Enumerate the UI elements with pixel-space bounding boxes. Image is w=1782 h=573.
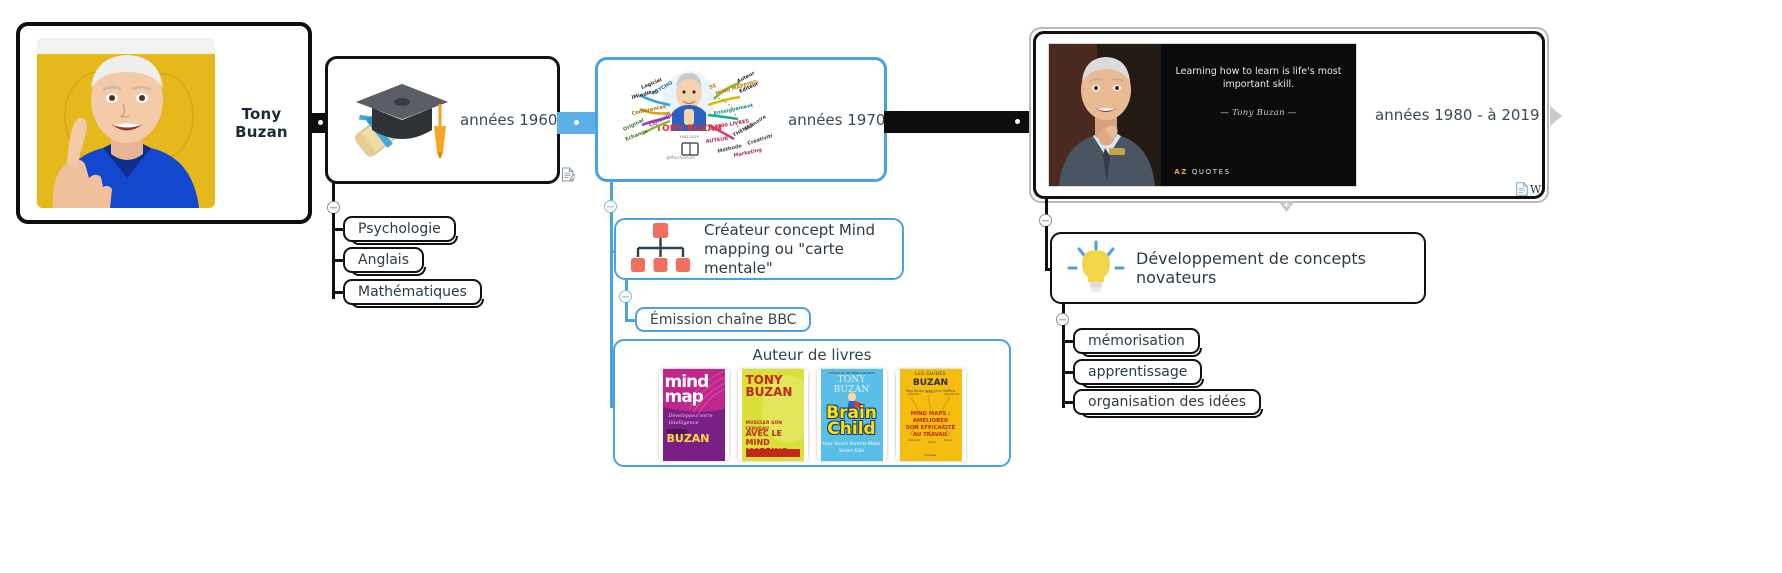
book-covers-row: mind map Développez votre Intelligence B… [615,369,1009,461]
sub-node-psychologie[interactable]: Psychologie [343,216,456,242]
books-title: Auteur de livres [615,346,1009,364]
sub-node-apprentissage[interactable]: apprentissage [1073,359,1202,385]
az-watermark-b: QUOTES [1192,168,1231,176]
graduation-cap-diploma-icon [340,68,452,172]
connector-concept-child-spine [625,302,628,320]
book-subtitle: Développez votre Intelligence [669,413,721,427]
node-auteur-de-livres[interactable]: Auteur de livres mind map [613,339,1011,467]
book-title: MIND MAPS :AMÉLIORERSON EFFICACITÉAU TRA… [900,411,962,439]
expand-plus-icon-1980[interactable] [1278,198,1295,217]
quote-author: — Tony Buzan — [1220,108,1296,118]
sub-node-label: Psychologie [358,221,441,237]
connector-1960-children-spine [332,213,335,299]
branch-node-1960[interactable]: années 1960 [325,56,560,184]
trunk-dot-2 [574,120,579,125]
book-cover-brain-child[interactable]: AUTHOR OF THE MIND MAP BOOK TONY BUZAN B… [817,369,887,461]
branch-1960-label: années 1960 [460,111,557,129]
svg-text:1942-2019: 1942-2019 [679,135,699,139]
root-label: Tony Buzan [215,105,308,141]
root-node-tony-buzan[interactable]: Tony Buzan [16,22,312,224]
concept-line-2: mapping ou "carte mentale" [704,240,902,278]
word-document-icon[interactable]: W [1516,182,1541,196]
mindmap-structure-icon [630,221,692,277]
word-letter: W [1530,183,1541,196]
az-watermark-a: AZ [1174,168,1188,176]
book-author: BUZAN [667,432,710,445]
trunk-dot-3 [1015,119,1020,124]
note-attachment-icon[interactable] [561,167,574,181]
book-title: BrainChild [821,405,883,437]
sub-node-label: Mathématiques [358,284,467,300]
sub-node-label: organisation des idées [1088,394,1246,410]
quote-text-block: Learning how to learn is life's most imp… [1161,44,1356,186]
node-developpement-concepts[interactable]: Développement de concepts novateurs [1050,232,1426,304]
sub-node-mathematiques[interactable]: Mathématiques [343,279,482,305]
az-quotes-watermark: AZ QUOTES [1049,168,1356,176]
node-createur-mind-mapping[interactable]: Créateur concept Mind mapping ou "carte … [614,218,904,280]
book-cover-muscler-son-cerveau[interactable]: TONY BUZAN MUSCLER SON CERVEAU AVEC LE M… [738,369,808,461]
connector-developpement-spine [1062,325,1065,408]
svg-text:@MarcSamuel: @MarcSamuel [666,155,695,160]
book-title: mind map [665,375,723,405]
sub-node-label: Émission chaîne BBC [650,312,796,328]
branch-node-1980-2019[interactable]: Learning how to learn is life's most imp… [1033,31,1545,199]
sub-node-label: Anglais [358,252,409,268]
quote-line-1: Learning how to learn is life's most [1176,66,1342,79]
concept-line-1: Créateur concept Mind [704,221,902,240]
book-collection: LES GUIDES [900,372,962,377]
pan-right-caret-icon[interactable] [1550,106,1563,130]
book-cover-les-guides-buzan[interactable]: MémoireProjets DiagrammeCréativité Notes… [896,369,966,461]
tony-buzan-quote-portrait [1049,44,1161,186]
branch-1980-label: années 1980 - à 2019 [1375,106,1540,124]
trunk-1970-to-1980 [884,111,1032,133]
book-publisher: Eyrolles [900,453,962,457]
branch-1970-label: années 1970 [788,111,885,129]
connector-1980-children-spine [1045,226,1048,270]
mindmap-thumbnail-icon: TONY BUZAN 1942-2019 Logiciel iMindMap P… [606,65,772,175]
quote-image-icon: Learning how to learn is life's most imp… [1048,43,1357,187]
sub-node-label: mémorisation [1088,333,1185,349]
mindmap-canvas[interactable]: Tony Buzan [0,0,1782,573]
svg-text:Notes: Notes [928,440,936,444]
trunk-dot-1 [318,120,323,125]
book-authors: Tony Buzan avec Chris Griffiths [900,389,962,393]
book-sub2: AVEC LE MIND MAPPING [746,429,804,456]
book-tagline: How Smart Parents Make Smart Kids [821,441,883,455]
sub-node-organisation-des-idees[interactable]: organisation des idées [1073,389,1261,415]
book-author-name: TONY BUZAN [821,375,883,395]
developpement-label: Développement de concepts novateurs [1136,249,1424,287]
sub-node-anglais[interactable]: Anglais [343,247,424,273]
lightbulb-idea-icon [1066,240,1126,296]
branch-node-1970[interactable]: TONY BUZAN 1942-2019 Logiciel iMindMap P… [595,57,887,182]
book-author-name: TONY BUZAN [746,374,804,398]
sub-node-label: apprentissage [1088,364,1187,380]
quote-line-2: important skill. [1223,79,1294,92]
sub-node-memorisation[interactable]: mémorisation [1073,328,1200,354]
tony-buzan-portrait [37,38,215,208]
book-author-name: BUZAN [900,378,962,388]
book-cover-mind-map[interactable]: mind map Développez votre Intelligence B… [659,369,729,461]
sub-node-emission-bbc[interactable]: Émission chaîne BBC [635,307,811,332]
